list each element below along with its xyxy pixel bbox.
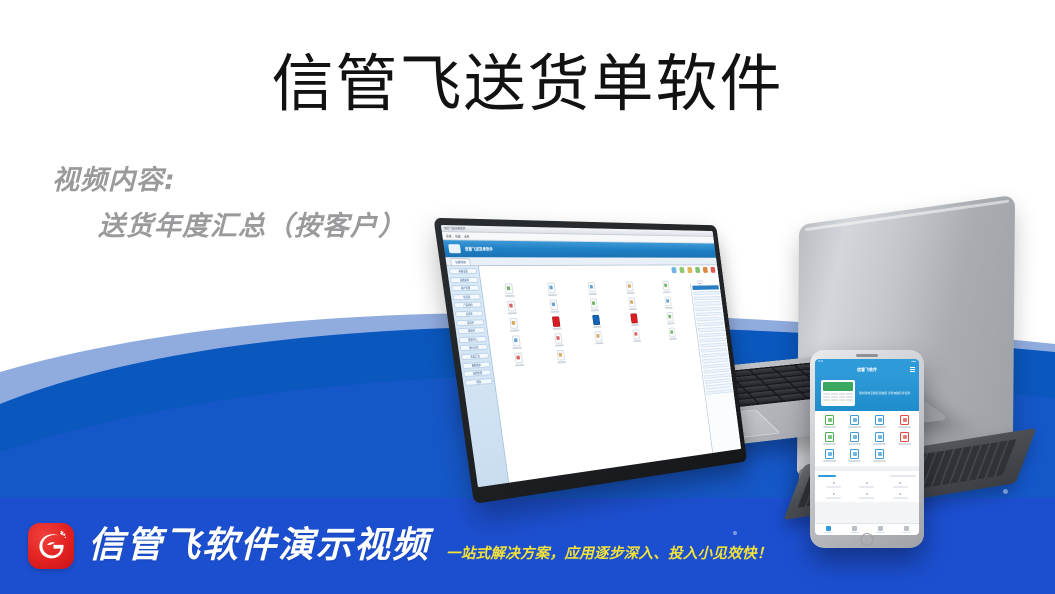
phone-stat-value: 0 <box>899 481 901 485</box>
desktop-app-window: 信管飞送货单软件 系统 基础 业务 信管飞送货单软件 功能导航 系统设置 <box>441 225 741 487</box>
app-toolbar <box>671 267 716 277</box>
grid-icon[interactable] <box>537 332 578 347</box>
phone-app-title: 信管飞软件 <box>857 367 877 373</box>
phone-hero-card <box>821 380 855 406</box>
sidebar-item[interactable]: 退货单 <box>456 319 484 326</box>
phone-function-grid <box>815 411 919 466</box>
phone-stat-value: 0 <box>866 481 868 485</box>
right-panel-row[interactable] <box>694 301 721 305</box>
brand-name: 信管飞软件演示视频 <box>88 526 430 566</box>
phone-status-time: 9:41 <box>818 360 823 363</box>
toolbar-button-edit[interactable] <box>679 267 686 276</box>
grid-icon[interactable] <box>654 327 689 341</box>
phone-stat-item: 0 <box>818 481 849 488</box>
toolbar-button-print[interactable] <box>702 267 708 276</box>
phone-stat-value: 0 <box>899 492 901 496</box>
grid-icon[interactable] <box>617 329 654 343</box>
right-panel-row[interactable] <box>695 306 722 310</box>
phone-grid-icon[interactable] <box>818 449 841 462</box>
phone-grid-icon[interactable] <box>843 415 866 428</box>
grid-icon[interactable] <box>491 317 535 332</box>
app-right-panel <box>690 284 741 453</box>
decorative-dot <box>1003 489 1008 494</box>
grid-icon-highlight[interactable] <box>535 316 576 331</box>
right-panel-row[interactable] <box>694 296 721 300</box>
grid-icon[interactable] <box>487 283 531 297</box>
grid-icon[interactable] <box>530 282 572 296</box>
app-tab-nav[interactable]: 功能导航 <box>450 258 471 265</box>
phone-stat-item: 0 <box>851 481 882 488</box>
app-main-area <box>479 265 741 482</box>
sidebar-item[interactable]: 报表中心 <box>459 336 487 343</box>
app-brand-title: 信管飞送货单软件 <box>464 246 493 252</box>
toolbar-button-refresh[interactable] <box>694 267 700 276</box>
phone-grid-icon[interactable] <box>893 432 916 445</box>
grid-icon[interactable] <box>650 296 685 309</box>
phone-hero-card-grid <box>823 393 853 401</box>
right-panel-row[interactable] <box>699 337 725 342</box>
right-panel-row[interactable] <box>706 389 732 395</box>
device-composition: 信管飞送货单软件 系统 基础 业务 信管飞送货单软件 功能导航 系统设置 <box>468 196 1055 526</box>
sidebar-item[interactable]: 基础资料 <box>450 277 478 283</box>
hamburger-menu-icon[interactable] <box>910 367 915 372</box>
app-menu-basic[interactable]: 基础 <box>455 234 461 238</box>
grid-icon[interactable] <box>652 312 687 326</box>
phone-stat-item: 0 <box>885 481 916 488</box>
grid-icon[interactable] <box>494 334 538 350</box>
right-panel-row[interactable] <box>697 322 723 327</box>
page-title: 信管飞送货单软件 <box>0 46 1055 124</box>
toolbar-button-exit[interactable] <box>710 267 716 276</box>
right-panel-row[interactable] <box>696 317 723 322</box>
phone-earpiece <box>856 354 878 357</box>
grid-icon[interactable] <box>611 281 648 294</box>
phone-app-header: 信管飞软件 <box>815 364 919 375</box>
app-menu-business[interactable]: 业务 <box>464 234 470 238</box>
phone-grid-icon[interactable] <box>843 449 866 462</box>
decorative-dot <box>733 531 737 535</box>
phone-stats-header <box>818 474 916 478</box>
sidebar-item[interactable]: 年度汇总 <box>461 352 489 360</box>
phone-status-icons: ●●● <box>911 360 916 363</box>
phone-grid-icon[interactable] <box>893 415 916 428</box>
phone-stat-value: 0 <box>833 492 835 496</box>
grid-icon-highlight[interactable] <box>615 313 652 327</box>
grid-icon[interactable] <box>540 349 581 365</box>
right-panel-row[interactable] <box>696 312 723 317</box>
phone-grid-icon[interactable] <box>868 432 891 445</box>
phone-stat-value: 0 <box>833 481 835 485</box>
phone-grid-icon[interactable] <box>818 415 841 428</box>
brand-tagline: 一站式解决方案，应用逐步深入、投入小见效快！ <box>446 530 772 563</box>
right-panel-row[interactable] <box>693 291 720 295</box>
right-panel-row[interactable] <box>699 332 725 337</box>
sidebar-item[interactable]: 送货单 <box>455 310 483 317</box>
video-content-label: 视频内容: <box>52 158 406 204</box>
phone-grid-icon[interactable] <box>843 432 866 445</box>
sidebar-item[interactable]: 帮助 <box>465 378 493 386</box>
video-content-topic: 送货年度汇总（按客户） <box>52 204 406 250</box>
app-logo-icon <box>448 244 461 253</box>
grid-icon[interactable] <box>574 298 613 312</box>
toolbar-button-delete[interactable] <box>687 267 693 276</box>
sidebar-item[interactable]: 客户管理 <box>451 285 479 291</box>
sidebar-item[interactable]: 权限管理 <box>463 369 491 377</box>
phone-grid-icon[interactable] <box>868 415 891 428</box>
sidebar-item[interactable]: 数据维护 <box>462 361 490 369</box>
phone-hero-card-top <box>823 382 853 391</box>
grid-icon[interactable] <box>572 282 611 296</box>
right-panel-row[interactable] <box>702 358 728 363</box>
grid-icon[interactable] <box>533 299 574 313</box>
function-icon-grid <box>484 280 727 368</box>
phone-grid-icon[interactable] <box>868 449 891 462</box>
grid-icon[interactable] <box>613 297 650 311</box>
phone-stat-value: 0 <box>866 492 868 496</box>
app-body: 系统设置 基础资料 客户管理 供应商 产品资料 送货单 退货单 收款单 报表中心… <box>447 265 741 487</box>
grid-icon-highlight[interactable] <box>576 314 615 328</box>
video-content-block: 视频内容: 送货年度汇总（按客户） <box>52 158 406 250</box>
phone-hero-text: 随时随地掌握经营数据 手机电脑同步使用 <box>859 391 910 395</box>
grid-icon[interactable] <box>578 330 617 345</box>
sidebar-item[interactable]: 产品资料 <box>454 302 482 309</box>
grid-icon[interactable] <box>489 300 533 315</box>
closed-laptop-hinge <box>805 199 1009 231</box>
toolbar-button-new[interactable] <box>671 267 678 277</box>
sidebar-item[interactable]: 统计分析 <box>460 344 488 351</box>
app-brand-bar: 信管飞送货单软件 <box>443 240 716 258</box>
grid-icon[interactable] <box>496 351 540 367</box>
right-panel-header <box>692 285 719 290</box>
app-titlebar-text: 信管飞送货单软件 <box>444 226 466 230</box>
open-laptop-screen: 信管飞送货单软件 系统 基础 业务 信管飞送货单软件 功能导航 系统设置 <box>433 218 747 504</box>
phone-stats-grid: 0 0 0 0 0 0 <box>818 481 916 499</box>
phone-hero-banner: 随时随地掌握经营数据 手机电脑同步使用 <box>815 375 919 411</box>
sidebar-item[interactable]: 收款单 <box>457 327 485 334</box>
sidebar-item[interactable]: 系统设置 <box>449 268 477 274</box>
right-panel-row[interactable] <box>698 327 724 332</box>
grid-icon[interactable] <box>648 281 683 294</box>
bottom-banner: 信管飞软件演示视频 一站式解决方案，应用逐步深入、投入小见效快！ <box>0 498 1055 594</box>
phone-grid-icon[interactable] <box>818 432 841 445</box>
sidebar-item[interactable]: 供应商 <box>452 293 480 300</box>
app-menu-system[interactable]: 系统 <box>446 234 452 238</box>
xinguanfei-dove-logo-icon <box>28 523 74 569</box>
presentation-slide: 信管飞送货单软件 视频内容: 送货年度汇总（按客户） <box>0 0 1055 594</box>
phone-stats-panel: 0 0 0 0 0 0 <box>815 468 919 502</box>
